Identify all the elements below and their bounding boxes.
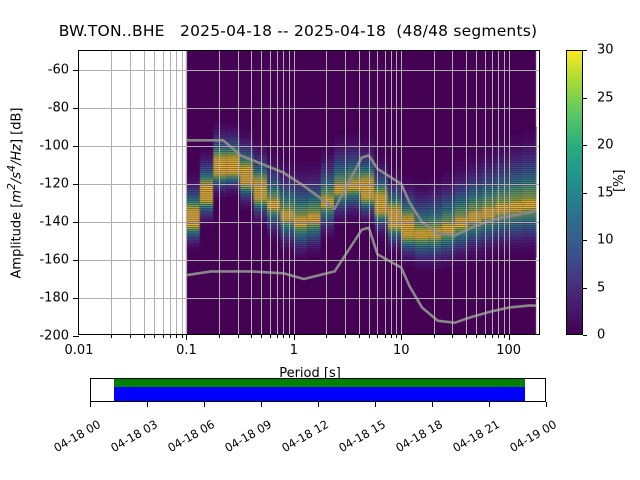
timeline-tick-label: 04-18 21 [450,417,502,455]
x-axis-tick [509,334,510,340]
x-axis-tick [170,334,171,338]
colorbar-tick-label: 0 [597,328,605,343]
x-axis-tick [186,334,187,340]
colorbar-tick-label: 20 [597,138,614,153]
x-gridline [492,51,493,334]
colorbar-tick [583,240,587,241]
x-axis-tick [452,334,453,338]
x-gridline [270,51,271,334]
y-gridline [79,108,539,109]
x-axis-tick [401,334,402,340]
timeline-tick [375,402,376,407]
x-gridline [163,51,164,334]
y-gridline [79,298,539,299]
x-gridline [359,51,360,334]
x-axis-tick [176,334,177,338]
x-gridline [452,51,453,334]
x-gridline [176,51,177,334]
y-axis-tick [73,146,79,147]
timeline-tick-label: 04-19 00 [507,417,559,455]
x-axis-tick [377,334,378,338]
timeline-tick [90,402,91,407]
colorbar-tick-label: 30 [597,43,614,58]
ppsd-figure: BW.TON..BHE 2025-04-18 -- 2025-04-18 (48… [0,0,640,480]
timeline-tick [318,402,319,407]
y-axis-tick-label: -100 [39,139,69,154]
timeline-tick [204,402,205,407]
timeline-tick-label: 04-18 09 [222,417,274,455]
x-axis-tick [492,334,493,338]
timeline-tick [546,402,547,407]
x-gridline [369,51,370,334]
x-axis-tick [391,334,392,338]
colorbar-unit-label: [%] [612,170,627,193]
x-axis-tick-label: 100 [496,343,521,358]
x-axis-tick [163,334,164,338]
y-axis-tick [73,298,79,299]
y-axis-tick [73,70,79,71]
y-axis-tick [73,108,79,109]
y-axis-tick-label: -180 [39,291,69,306]
x-gridline [504,51,505,334]
x-axis-tick [283,334,284,338]
x-axis-tick-label: 0.1 [176,343,197,358]
x-gridline [289,51,290,334]
colorbar-tick [583,288,587,289]
colorbar-tick-label: 5 [597,280,605,295]
x-axis-tick [261,334,262,338]
x-gridline [277,51,278,334]
colorbar [566,50,583,335]
x-axis-tick [277,334,278,338]
x-gridline [391,51,392,334]
x-axis-tick [154,334,155,338]
ppsd-plot-clip [79,51,539,334]
colorbar-tick [583,193,587,194]
y-axis-tick [73,336,79,337]
y-gridline [79,184,539,185]
x-gridline [476,51,477,334]
timeline-tick [147,402,148,407]
colorbar-tick-label: 25 [597,90,614,105]
y-axis-tick [73,222,79,223]
x-axis-tick [270,334,271,338]
x-gridline [326,51,327,334]
timeline-tick [432,402,433,407]
x-axis-tick-label: 1 [290,343,298,358]
x-gridline [154,51,155,334]
x-axis-tick [434,334,435,338]
x-axis-tick [182,334,183,338]
x-axis-tick [359,334,360,338]
x-axis-tick [219,334,220,338]
x-gridline [186,51,187,334]
x-gridline [238,51,239,334]
y-axis-tick-label: -80 [48,101,69,116]
ppsd-plot-axes: 0.010.1110100-60-80-100-120-140-160-180-… [78,50,540,335]
timeline-tick-label: 04-18 18 [393,417,445,455]
x-axis-tick [111,334,112,338]
x-gridline [485,51,486,334]
timeline-clip [91,379,545,401]
timeline-tick-label: 04-18 12 [279,417,331,455]
x-gridline [283,51,284,334]
figure-title: BW.TON..BHE 2025-04-18 -- 2025-04-18 (48… [0,22,596,40]
x-axis-tick [369,334,370,338]
x-gridline [219,51,220,334]
y-axis-tick-label: -160 [39,253,69,268]
y-gridline [79,260,539,261]
x-axis-tick [485,334,486,338]
noise-model-nlnm-curve [186,228,536,323]
x-gridline [434,51,435,334]
x-gridline [345,51,346,334]
x-gridline [111,51,112,334]
y-gridline [79,70,539,71]
x-gridline [130,51,131,334]
y-axis-label: Amplitude [m2/s4/Hz] [dB] [5,107,24,278]
x-gridline [170,51,171,334]
y-axis-tick [73,184,79,185]
psd-segments-band [114,387,525,401]
x-gridline [385,51,386,334]
x-axis-tick [345,334,346,338]
y-axis-tick-label: -60 [48,63,69,78]
timeline-axes [90,378,546,402]
y-gridline [79,146,539,147]
y-gridline [79,222,539,223]
x-gridline [377,51,378,334]
colorbar-tick [583,145,587,146]
timeline-tick-label: 04-18 03 [108,417,160,455]
timeline-tick-label: 04-18 06 [165,417,217,455]
x-axis-tick [144,334,145,338]
x-gridline [466,51,467,334]
x-gridline [182,51,183,334]
y-axis-tick-label: -140 [39,215,69,230]
x-axis-tick [326,334,327,338]
colorbar-tick-label: 10 [597,233,614,248]
y-axis-tick-label: -120 [39,177,69,192]
x-gridline [261,51,262,334]
x-gridline [396,51,397,334]
x-axis-tick [289,334,290,338]
x-gridline [509,51,510,334]
timeline-tick-label: 04-18 00 [51,417,103,455]
y-axis-tick-label: -200 [39,329,69,344]
x-gridline [144,51,145,334]
x-axis-tick [294,334,295,340]
x-gridline [401,51,402,334]
noise-model-curves [79,51,539,334]
x-gridline [294,51,295,334]
x-axis-tick [130,334,131,338]
timeline-tick [489,402,490,407]
timeline-tick [261,402,262,407]
timeline-tick-label: 04-18 15 [336,417,388,455]
colorbar-tick [583,335,587,336]
colorbar-tick [583,50,587,51]
x-gridline [498,51,499,334]
x-axis-tick [385,334,386,338]
data-coverage-band [114,379,525,387]
x-axis-tick-label: 10 [393,343,410,358]
x-gridline [251,51,252,334]
colorbar-tick [583,98,587,99]
x-axis-tick [466,334,467,338]
x-axis-tick-label: 0.01 [65,343,94,358]
x-axis-tick [396,334,397,338]
x-axis-tick [498,334,499,338]
x-axis-tick [476,334,477,338]
x-axis-tick [238,334,239,338]
x-axis-tick [504,334,505,338]
x-axis-tick [251,334,252,338]
y-axis-tick [73,260,79,261]
